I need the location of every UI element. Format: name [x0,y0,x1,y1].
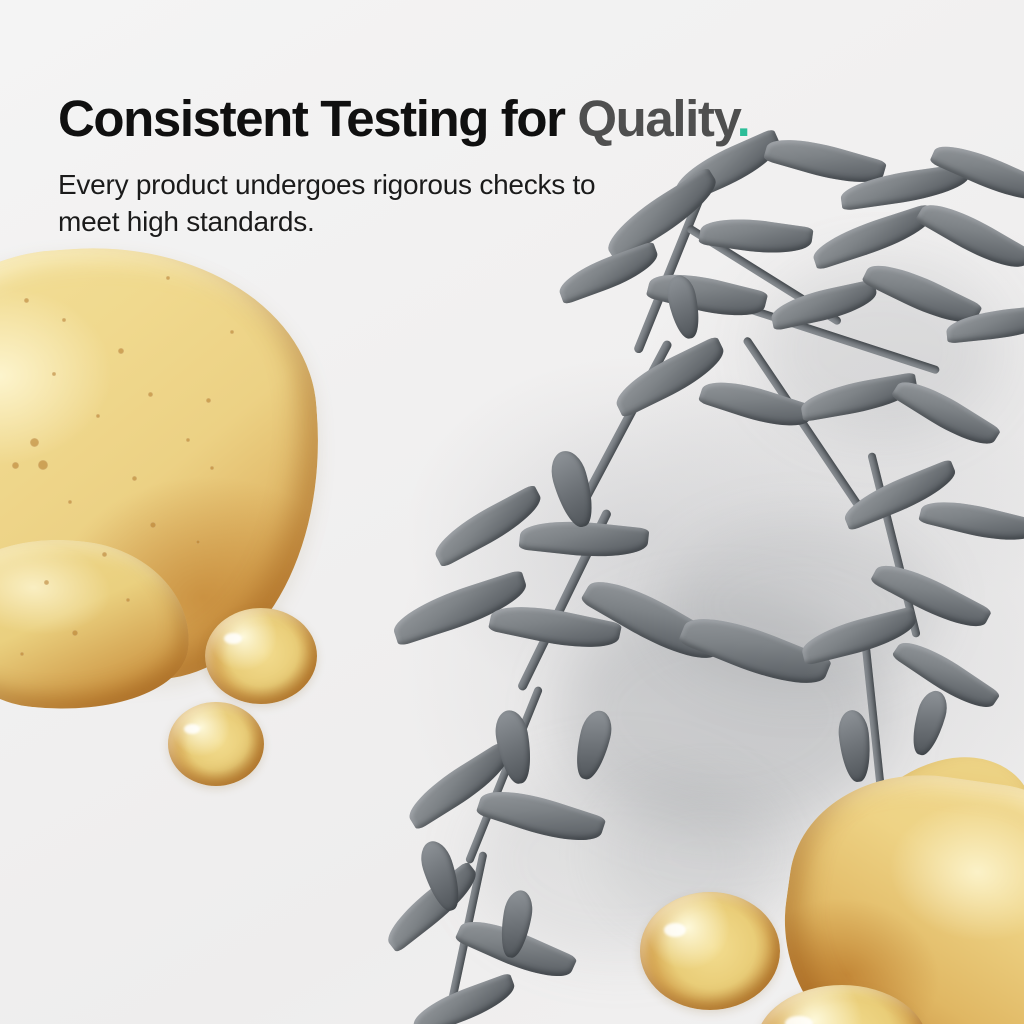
honey-droplet [205,608,317,704]
honey-droplet [640,892,780,1010]
page-subtitle: Every product undergoes rigorous checks … [58,166,758,240]
headline-accent-word: Quality [577,90,736,147]
marketing-banner: Consistent Testing for Quality. Every pr… [0,0,1024,1024]
subtitle-line-1: Every product undergoes rigorous checks … [58,166,758,203]
page-title: Consistent Testing for Quality. [58,92,958,145]
text-block: Consistent Testing for Quality. Every pr… [58,92,958,241]
headline-accent-dot: . [737,90,750,147]
subtitle-line-2: meet high standards. [58,203,758,240]
honey-droplet [168,702,264,786]
headline-primary: Consistent Testing for [58,90,577,147]
